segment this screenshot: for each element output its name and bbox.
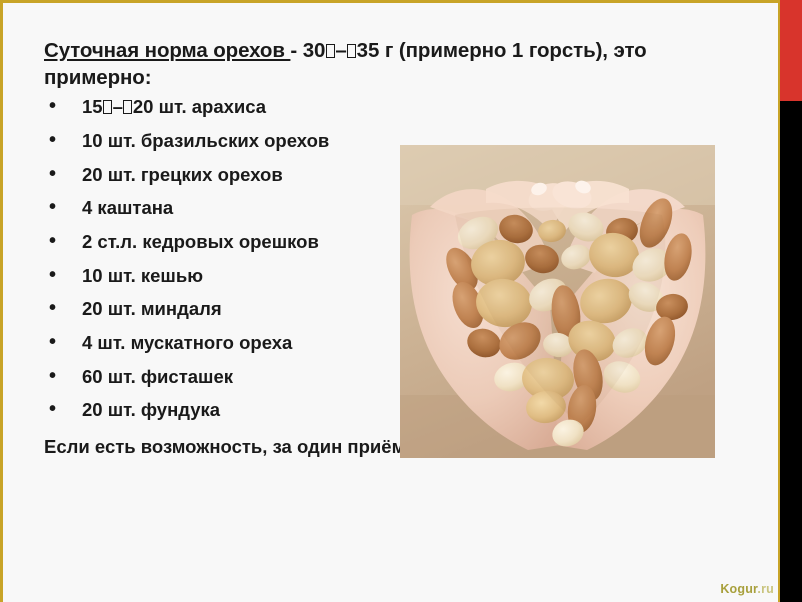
black-accent-bar (780, 101, 802, 602)
list-item: 15–20 шт. арахиса (44, 98, 744, 117)
item-prefix: 15 (82, 96, 103, 117)
top-gold-border (0, 0, 802, 3)
missing-glyph-box-icon (347, 44, 356, 58)
heading-rest-a: - 30 (290, 39, 325, 62)
missing-glyph-box-icon (326, 44, 335, 58)
page-title: Суточная норма орехов - 30–35 г (примерн… (44, 38, 744, 91)
left-gold-border (0, 0, 3, 602)
slide: Суточная норма орехов - 30–35 г (примерн… (0, 0, 802, 602)
watermark-tld: .ru (757, 582, 774, 596)
red-accent-bar (780, 0, 802, 101)
item-suffix: 20 шт. арахиса (133, 96, 266, 117)
item-dash: – (113, 96, 123, 117)
missing-glyph-box-icon (123, 100, 132, 114)
missing-glyph-box-icon (103, 100, 112, 114)
nuts-in-heart-hands-photo (400, 145, 715, 458)
watermark-name: Kogur (720, 582, 757, 596)
heading-underlined: Суточная норма орехов (44, 39, 290, 62)
heading-dash: – (335, 39, 346, 62)
site-watermark: Kogur.ru (720, 582, 774, 596)
